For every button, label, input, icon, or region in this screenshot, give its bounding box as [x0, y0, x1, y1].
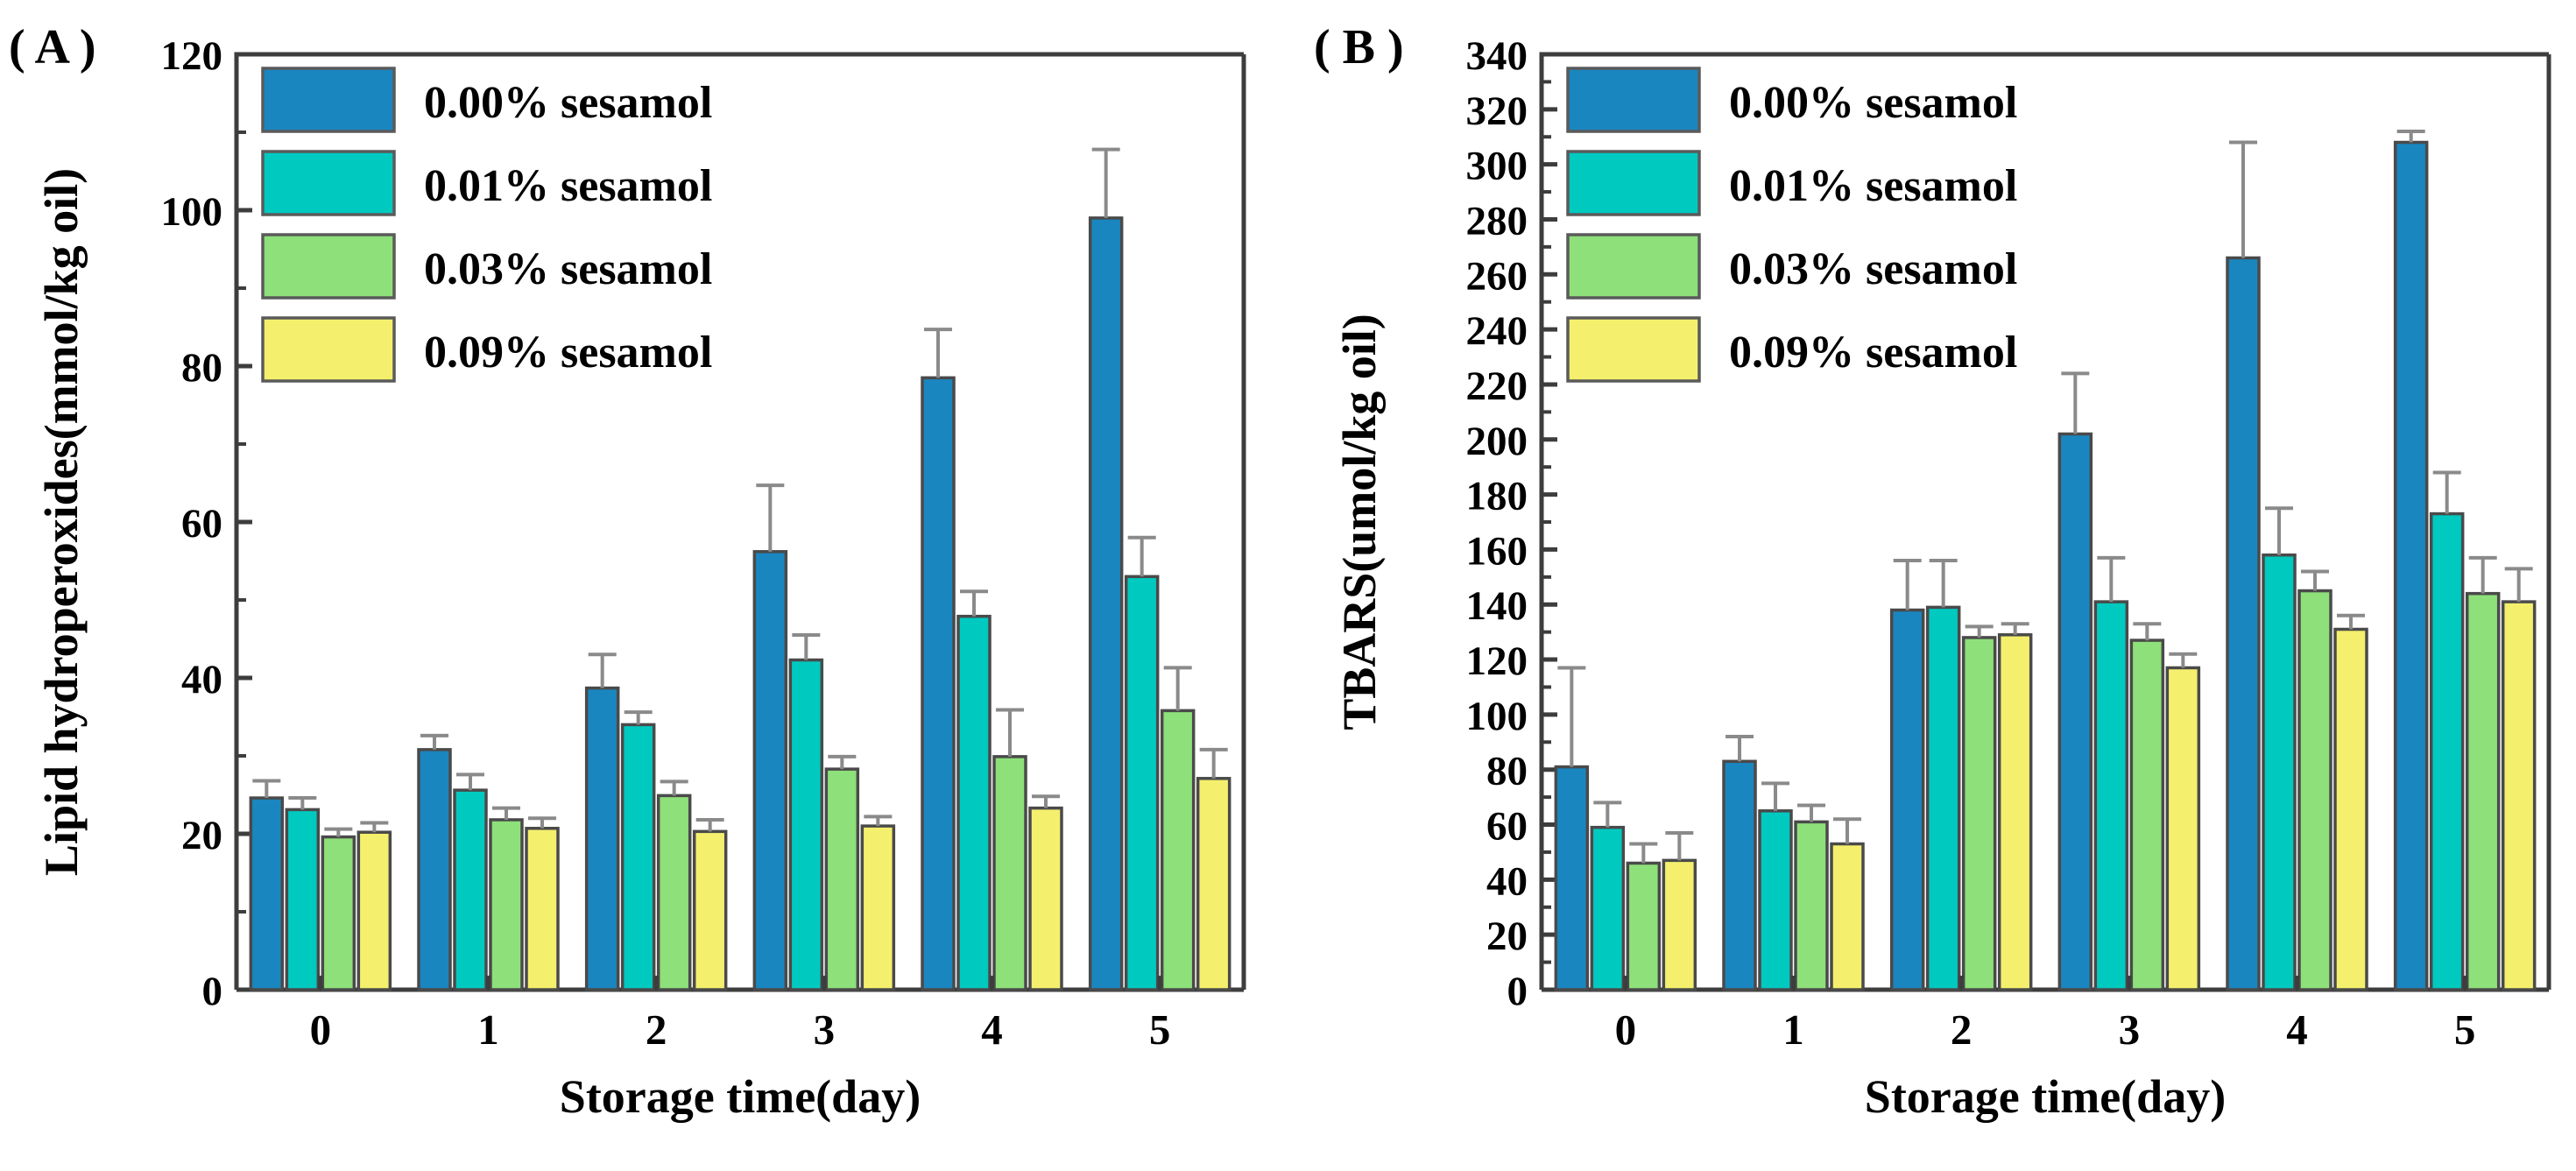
bar — [1928, 607, 1959, 990]
bar — [2095, 602, 2127, 990]
bar — [455, 790, 486, 990]
y-tick-label: 200 — [1466, 419, 1528, 464]
error-bar — [2397, 131, 2425, 143]
legend-swatch — [263, 152, 394, 215]
error-bar — [2433, 472, 2461, 513]
x-tick-label: 5 — [2454, 1005, 2476, 1054]
legend-swatch — [1568, 235, 1699, 298]
y-tick-label: 20 — [181, 813, 222, 858]
bar — [1663, 860, 1695, 990]
x-tick-label: 3 — [814, 1005, 836, 1054]
panel-a-svg: ( A )020406080100120Lipid hydroperoxides… — [0, 0, 1288, 1171]
y-tick-label: 60 — [181, 501, 222, 547]
y-tick-label: 20 — [1486, 914, 1528, 959]
error-bar — [1629, 844, 1657, 864]
bar — [2335, 630, 2367, 990]
x-tick-label: 1 — [477, 1005, 499, 1054]
x-tick-label: 0 — [1615, 1005, 1637, 1054]
y-tick-label: 120 — [1466, 638, 1528, 684]
error-bar — [1966, 626, 1994, 638]
error-bar — [2469, 558, 2497, 594]
bar — [322, 837, 354, 990]
bar — [1090, 218, 1122, 990]
bar — [2263, 555, 2295, 990]
panel-a: ( A )020406080100120Lipid hydroperoxides… — [0, 0, 1288, 1171]
error-bar — [2061, 373, 2089, 434]
y-tick-label: 160 — [1466, 528, 1528, 574]
error-bar — [696, 820, 724, 831]
bar — [754, 552, 786, 990]
error-bar — [828, 757, 856, 769]
bar — [1760, 811, 1791, 990]
bar — [862, 826, 893, 990]
legend-label: 0.01% sesamol — [1729, 161, 2017, 211]
bar — [587, 688, 618, 990]
error-bar — [1665, 833, 1693, 860]
error-bar — [2337, 616, 2365, 630]
bar — [826, 769, 857, 990]
legend-label: 0.09% sesamol — [1729, 328, 2017, 377]
bar — [2299, 591, 2331, 990]
bar — [419, 750, 450, 990]
error-bar — [1128, 538, 1156, 577]
error-bar — [1894, 561, 1922, 610]
error-bar — [1032, 796, 1060, 808]
bar — [695, 831, 726, 990]
y-tick-label: 100 — [161, 189, 223, 235]
y-tick-label: 80 — [1486, 749, 1528, 794]
x-tick-label: 4 — [981, 1005, 1003, 1054]
y-tick-label: 100 — [1466, 694, 1528, 739]
bar — [1162, 710, 1194, 990]
error-bar — [2133, 624, 2161, 640]
x-tick-label: 0 — [310, 1005, 332, 1054]
bar — [790, 660, 822, 990]
legend-swatch — [1568, 68, 1699, 131]
y-tick-label: 0 — [1507, 969, 1528, 1014]
x-tick-label: 1 — [1782, 1005, 1804, 1054]
error-bar — [792, 635, 820, 660]
x-axis-title: Storage time(day) — [560, 1070, 921, 1123]
error-bar — [1200, 750, 1228, 779]
y-tick-label: 220 — [1466, 363, 1528, 409]
x-tick-label: 2 — [1951, 1005, 1973, 1054]
bar — [286, 809, 318, 990]
error-bar — [492, 808, 520, 820]
error-bar — [2505, 568, 2533, 602]
bar — [994, 757, 1026, 990]
bar — [2396, 143, 2427, 990]
y-tick-label: 80 — [181, 345, 222, 391]
error-bar — [1833, 819, 1861, 843]
bar — [2059, 434, 2091, 990]
bar — [958, 617, 990, 990]
x-axis-title: Storage time(day) — [1865, 1070, 2226, 1123]
bar — [1724, 761, 1755, 990]
legend-label: 0.03% sesamol — [1729, 244, 2017, 294]
error-bar — [1557, 667, 1585, 766]
bar — [1126, 576, 1158, 990]
x-tick-label: 2 — [646, 1005, 667, 1054]
panel-tag: ( B ) — [1314, 20, 1404, 74]
y-tick-label: 0 — [202, 969, 223, 1014]
x-tick-label: 5 — [1149, 1005, 1171, 1054]
error-bar — [2001, 624, 2029, 635]
bar — [2167, 667, 2198, 990]
error-bar — [2169, 654, 2197, 668]
y-tick-label: 60 — [1486, 804, 1528, 850]
bar — [2431, 514, 2463, 990]
bar — [358, 832, 390, 990]
y-tick-label: 40 — [181, 657, 222, 702]
error-bar — [625, 712, 653, 724]
bar — [2131, 640, 2163, 990]
bar — [2503, 602, 2535, 990]
bar — [251, 798, 282, 990]
panel-b-svg: ( B )02040608010012014016018020022024026… — [1288, 0, 2576, 1171]
y-tick-label: 300 — [1466, 144, 1528, 189]
legend-swatch — [263, 318, 394, 381]
error-bar — [924, 329, 952, 377]
y-tick-label: 180 — [1466, 474, 1528, 519]
bar — [2467, 594, 2499, 990]
y-tick-label: 340 — [1466, 33, 1528, 79]
y-tick-label: 260 — [1466, 253, 1528, 299]
error-bar — [2301, 572, 2329, 591]
bar — [2000, 635, 2031, 990]
bar — [1556, 767, 1587, 990]
bar — [922, 377, 954, 990]
y-tick-label: 120 — [161, 33, 223, 79]
bar — [1964, 638, 1995, 990]
error-bar — [420, 736, 448, 750]
figure-root: ( A )020406080100120Lipid hydroperoxides… — [0, 0, 2576, 1171]
bar — [1796, 822, 1827, 990]
legend-label: 0.09% sesamol — [424, 328, 712, 377]
error-bar — [660, 781, 688, 795]
bar — [1892, 610, 1923, 990]
legend-label: 0.00% sesamol — [1729, 78, 2017, 128]
error-bar — [2229, 143, 2257, 258]
bar — [1627, 864, 1659, 990]
y-tick-label: 280 — [1466, 198, 1528, 243]
bar — [623, 724, 654, 990]
y-tick-label: 240 — [1466, 308, 1528, 354]
bar — [490, 820, 522, 990]
error-bar — [1593, 802, 1621, 827]
legend-swatch — [263, 68, 394, 131]
bar — [526, 829, 558, 990]
legend-label: 0.01% sesamol — [424, 161, 712, 211]
legend-swatch — [263, 235, 394, 298]
y-tick-label: 40 — [1486, 858, 1528, 904]
error-bar — [996, 709, 1024, 756]
bar — [1198, 779, 1230, 990]
legend-label: 0.03% sesamol — [424, 244, 712, 294]
x-tick-label: 4 — [2286, 1005, 2308, 1054]
panel-b: ( B )02040608010012014016018020022024026… — [1288, 0, 2576, 1171]
x-tick-label: 3 — [2119, 1005, 2141, 1054]
error-bar — [1797, 806, 1825, 822]
error-bar — [252, 780, 280, 798]
error-bar — [2265, 508, 2293, 554]
bar — [2227, 257, 2259, 990]
legend-swatch — [1568, 152, 1699, 215]
error-bar — [288, 798, 316, 809]
error-bar — [456, 774, 484, 790]
error-bar — [1164, 667, 1192, 710]
panel-tag: ( A ) — [9, 20, 96, 74]
error-bar — [756, 485, 784, 552]
error-bar — [589, 654, 617, 688]
y-axis-title: TBARS(umol/kg oil) — [1333, 314, 1386, 730]
y-tick-label: 140 — [1466, 583, 1528, 629]
legend-swatch — [1568, 318, 1699, 381]
error-bar — [1726, 737, 1754, 761]
bar — [659, 795, 690, 990]
y-tick-label: 320 — [1466, 88, 1528, 134]
bar — [1591, 828, 1623, 990]
legend-label: 0.00% sesamol — [424, 78, 712, 128]
error-bar — [2097, 558, 2125, 602]
y-axis-title: Lipid hydroperoxides(mmol/kg oil) — [35, 168, 88, 876]
bar — [1831, 844, 1863, 990]
bar — [1030, 808, 1062, 990]
error-bar — [1761, 783, 1789, 810]
error-bar — [960, 591, 988, 616]
error-bar — [1092, 150, 1120, 218]
error-bar — [1930, 561, 1958, 607]
